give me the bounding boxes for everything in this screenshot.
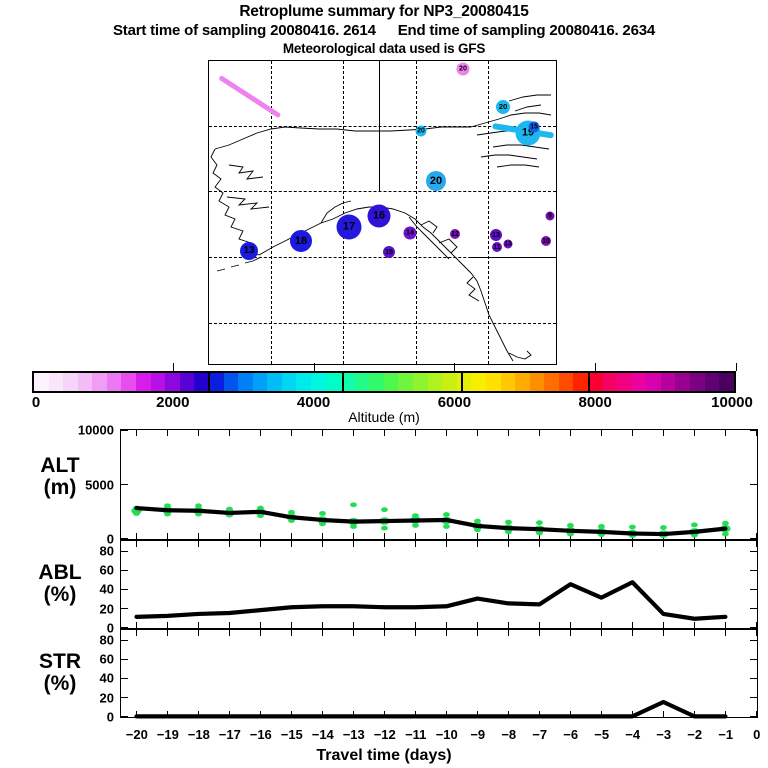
colorbar-segment bbox=[224, 373, 239, 391]
colorbar-segment bbox=[690, 373, 705, 391]
x-axis-tick-label: −1 bbox=[718, 727, 733, 742]
colorbar-segment bbox=[617, 373, 632, 391]
scatter-point bbox=[350, 524, 357, 529]
map-trajectory-marker[interactable]: 17 bbox=[337, 215, 362, 240]
colorbar-segment bbox=[675, 373, 690, 391]
data-line bbox=[137, 702, 726, 716]
colorbar-segment bbox=[646, 373, 661, 391]
x-axis-tick-label: −4 bbox=[625, 727, 640, 742]
y-axis-tick-label: 20 bbox=[40, 690, 114, 705]
colorbar-segment bbox=[661, 373, 676, 391]
map-marker-label: 18 bbox=[295, 236, 307, 247]
x-axis-tick-label: −2 bbox=[687, 727, 702, 742]
map-marker-label: 13 bbox=[492, 232, 500, 239]
map-marker-label: 9 bbox=[548, 213, 552, 220]
retroplume-summary-figure: Retroplume summary for NP3_20080415 Star… bbox=[0, 0, 768, 768]
colorbar-segment bbox=[136, 373, 151, 391]
colorbar-segment bbox=[471, 373, 486, 391]
colorbar-segment bbox=[369, 373, 384, 391]
plot-data-layer bbox=[121, 630, 756, 716]
y-axis-tick-label: 40 bbox=[40, 671, 114, 686]
map-marker-label: 20 bbox=[430, 176, 442, 187]
map-trajectory-marker[interactable]: 20 bbox=[416, 126, 427, 137]
map-trajectory-marker[interactable]: 13 bbox=[240, 242, 258, 260]
colorbar-segment bbox=[719, 373, 734, 391]
map-trajectory-marker[interactable]: 13 bbox=[490, 229, 502, 241]
colorbar-section-divider bbox=[461, 371, 463, 393]
scatter-point bbox=[350, 502, 357, 507]
x-axis-tick-label: −17 bbox=[219, 727, 241, 742]
x-axis-tick-top bbox=[756, 541, 757, 547]
x-axis-tick-label: −19 bbox=[157, 727, 179, 742]
colorbar-section-divider bbox=[588, 371, 590, 393]
map-marker-label: 11 bbox=[493, 244, 500, 251]
y-axis-tick-label: 60 bbox=[40, 652, 114, 667]
page-title: Retroplume summary for NP3_20080415 bbox=[0, 2, 768, 21]
x-axis-tick-label: −11 bbox=[405, 727, 426, 742]
x-axis-tick-label: −15 bbox=[281, 727, 303, 742]
colorbar-segment bbox=[165, 373, 180, 391]
colorbar-segment bbox=[121, 373, 136, 391]
str-plot-panel[interactable] bbox=[120, 629, 758, 718]
scatter-point bbox=[629, 525, 636, 530]
x-axis-tick-label: −6 bbox=[563, 727, 578, 742]
colorbar-segment bbox=[180, 373, 195, 391]
x-axis-tick-top bbox=[756, 630, 757, 636]
map-trajectory-marker[interactable]: 12 bbox=[450, 229, 460, 239]
scatter-point bbox=[536, 520, 543, 525]
colorbar-tick bbox=[736, 363, 737, 371]
map-marker-label: 13 bbox=[504, 241, 512, 248]
colorbar-segment bbox=[530, 373, 545, 391]
colorbar-segment bbox=[544, 373, 559, 391]
map-marker-label: 15 bbox=[530, 124, 538, 131]
map-trajectory-marker[interactable]: 20 bbox=[496, 100, 510, 114]
colorbar-segment bbox=[501, 373, 516, 391]
colorbar-title: Altitude (m) bbox=[0, 409, 768, 425]
x-axis-tick-label: −13 bbox=[343, 727, 365, 742]
y-axis-tick-label: 80 bbox=[40, 543, 114, 558]
map-canvas: 20192015202091012131113141617181513 bbox=[209, 61, 556, 364]
colorbar-segment bbox=[107, 373, 122, 391]
scatter-point bbox=[412, 523, 419, 528]
map-trajectory-marker[interactable]: 18 bbox=[290, 230, 312, 252]
colorbar-segment bbox=[311, 373, 326, 391]
colorbar-segment bbox=[632, 373, 647, 391]
colorbar-segment bbox=[151, 373, 166, 391]
colorbar-segment bbox=[209, 373, 224, 391]
colorbar-segment bbox=[34, 373, 49, 391]
met-data-label: Meteorological data used is GFS bbox=[0, 40, 768, 57]
scatter-point bbox=[505, 520, 512, 525]
sampling-time-line: Start time of sampling 20080416. 2614End… bbox=[0, 21, 768, 40]
scatter-point bbox=[443, 512, 450, 517]
x-axis-tick-label: −12 bbox=[374, 727, 396, 742]
colorbar-segment bbox=[355, 373, 370, 391]
y-axis-tick-label: 20 bbox=[40, 601, 114, 616]
scatter-point bbox=[133, 511, 140, 516]
data-line bbox=[137, 508, 726, 534]
colorbar-segment bbox=[282, 373, 297, 391]
colorbar-tick bbox=[595, 363, 596, 371]
x-axis-tick-label: −18 bbox=[188, 727, 210, 742]
scatter-point bbox=[381, 507, 388, 512]
colorbar-section-divider bbox=[208, 371, 210, 393]
scatter-point bbox=[722, 532, 729, 537]
map-trajectory-marker[interactable]: 20 bbox=[457, 63, 470, 76]
colorbar-segment bbox=[457, 373, 472, 391]
x-axis-tick-label: −14 bbox=[312, 727, 334, 742]
colorbar-section-divider bbox=[342, 371, 344, 393]
colorbar-tick bbox=[454, 363, 455, 371]
map-border-vertical-2 bbox=[379, 129, 380, 191]
colorbar-segment bbox=[63, 373, 78, 391]
y-axis-tick-label: 60 bbox=[40, 563, 114, 578]
x-axis-tick-label: −8 bbox=[501, 727, 516, 742]
colorbar-segment bbox=[49, 373, 64, 391]
alt-plot-panel[interactable] bbox=[120, 429, 758, 540]
y-axis-tick-label: 0 bbox=[40, 709, 114, 724]
colorbar-segment bbox=[92, 373, 107, 391]
map-marker-label: 15 bbox=[385, 249, 393, 256]
colorbar-segment bbox=[78, 373, 93, 391]
map-marker-label: 13 bbox=[244, 246, 255, 256]
x-axis-title: Travel time (days) bbox=[0, 747, 768, 765]
map-trajectory-marker[interactable]: 9 bbox=[546, 212, 555, 221]
map-trajectory-marker[interactable]: 15 bbox=[383, 246, 395, 258]
plot-data-layer bbox=[121, 430, 756, 538]
colorbar-segment bbox=[428, 373, 443, 391]
colorbar-segment bbox=[559, 373, 574, 391]
map-trajectory-marker[interactable]: 16 bbox=[368, 205, 391, 228]
map-trajectory-marker[interactable]: 20 bbox=[426, 171, 446, 191]
title-block: Retroplume summary for NP3_20080415 Star… bbox=[0, 2, 768, 57]
map-marker-label: 17 bbox=[343, 222, 355, 233]
map-marker-label: 20 bbox=[417, 128, 425, 135]
data-line bbox=[137, 582, 726, 618]
colorbar-tick bbox=[173, 363, 174, 371]
map-marker-label: 16 bbox=[373, 211, 385, 222]
scatter-point bbox=[691, 522, 698, 527]
map-border-vertical bbox=[379, 61, 380, 131]
y-axis-tick bbox=[121, 716, 128, 717]
colorbar-segment bbox=[398, 373, 413, 391]
x-axis-tick-label: −3 bbox=[656, 727, 671, 742]
start-time-label: Start time of sampling 20080416. 2614 bbox=[113, 22, 376, 39]
map-trajectory-marker[interactable]: 11 bbox=[492, 242, 502, 252]
x-axis-tick-label: −5 bbox=[594, 727, 609, 742]
colorbar-segment bbox=[238, 373, 253, 391]
colorbar-segment bbox=[384, 373, 399, 391]
map-border-horizontal bbox=[471, 257, 555, 258]
colorbar-segment bbox=[413, 373, 428, 391]
y-axis-tick-label: 40 bbox=[40, 582, 114, 597]
map-marker-label: 20 bbox=[459, 65, 467, 72]
map-marker-label: 10 bbox=[542, 238, 550, 245]
scatter-point bbox=[660, 525, 667, 530]
abl-plot-panel[interactable] bbox=[120, 540, 758, 629]
x-axis-tick-label: −9 bbox=[470, 727, 485, 742]
end-time-label: End time of sampling 20080416. 2634 bbox=[398, 22, 655, 39]
y-axis-tick-right bbox=[750, 716, 757, 717]
x-axis-tick-label: −16 bbox=[250, 727, 272, 742]
map-trajectory-marker[interactable]: 13 bbox=[504, 240, 513, 249]
y-axis-tick-label: 10000 bbox=[40, 423, 114, 438]
colorbar-segment bbox=[267, 373, 282, 391]
plot-data-layer bbox=[121, 541, 756, 627]
map-marker-label: 14 bbox=[406, 229, 414, 236]
colorbar-segment bbox=[326, 373, 341, 391]
colorbar-segment bbox=[194, 373, 209, 391]
map-trajectory-marker[interactable]: 14 bbox=[404, 227, 417, 240]
map-panel[interactable]: 20192015202091012131113141617181513 bbox=[208, 60, 557, 365]
x-axis-tick-label: 0 bbox=[753, 727, 760, 742]
y-axis-tick-label: 5000 bbox=[40, 477, 114, 492]
colorbar-segment bbox=[442, 373, 457, 391]
colorbar-segment bbox=[573, 373, 588, 391]
x-axis-tick-label: −10 bbox=[436, 727, 458, 742]
colorbar-segment bbox=[296, 373, 311, 391]
x-axis-tick-label: −20 bbox=[126, 727, 148, 742]
scatter-point bbox=[319, 511, 326, 516]
scatter-point bbox=[443, 524, 450, 529]
map-marker-label: 12 bbox=[451, 231, 459, 238]
colorbar-segment bbox=[515, 373, 530, 391]
colorbar-segment bbox=[253, 373, 268, 391]
colorbar-tick bbox=[314, 363, 315, 371]
altitude-colorbar[interactable] bbox=[32, 371, 736, 393]
map-trajectory-marker[interactable]: 15 bbox=[529, 122, 540, 133]
colorbar-segment bbox=[486, 373, 501, 391]
x-axis-tick-label: −7 bbox=[532, 727, 547, 742]
y-axis-tick-label: 80 bbox=[40, 632, 114, 647]
scatter-point bbox=[381, 526, 388, 531]
colorbar-segment bbox=[705, 373, 720, 391]
map-marker-label: 20 bbox=[499, 103, 508, 111]
map-trajectory-marker[interactable]: 10 bbox=[541, 236, 551, 246]
colorbar-segment bbox=[603, 373, 618, 391]
